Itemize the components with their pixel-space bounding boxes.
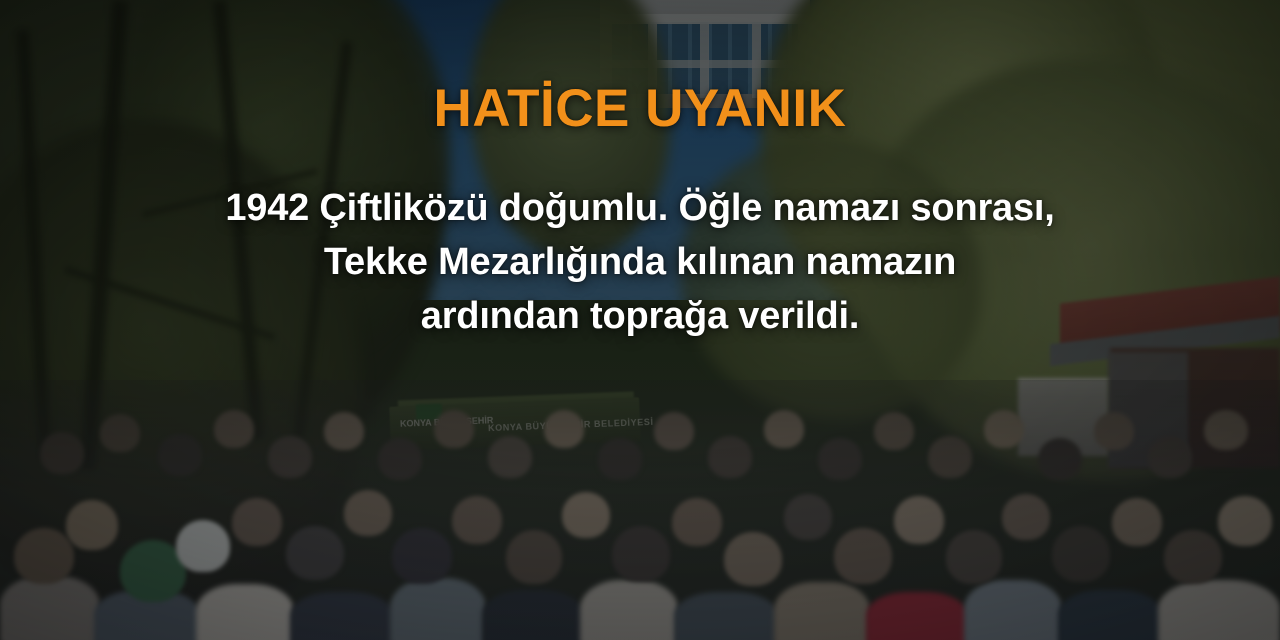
obituary-card: KONYA BÜYÜKŞEHİR BELEDİYESİ KONYA BÜYÜKŞ… (0, 0, 1280, 640)
background-photo: KONYA BÜYÜKŞEHİR BELEDİYESİ KONYA BÜYÜKŞ… (0, 0, 1280, 640)
vignette-overlay (0, 0, 1280, 640)
